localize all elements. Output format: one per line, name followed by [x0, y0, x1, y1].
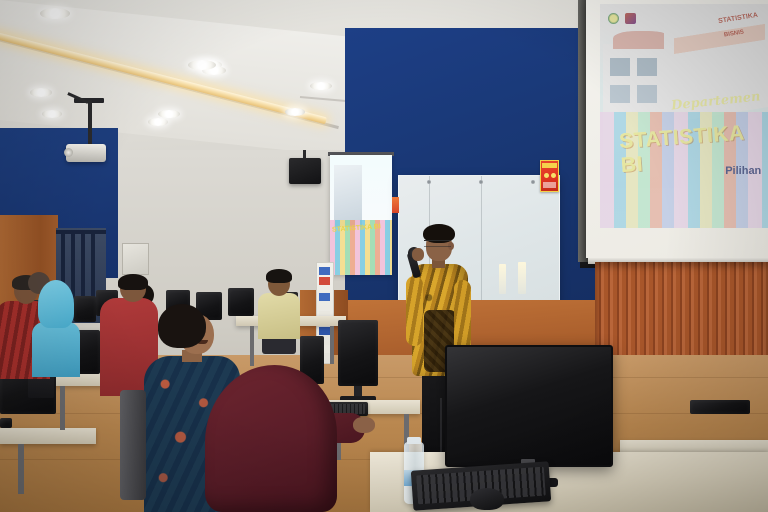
notice-item: [319, 327, 330, 335]
slide-image: STATISTIKA BISNIS Departemen STATISTIKA …: [600, 4, 768, 228]
notice-item: [319, 293, 330, 301]
torso: [258, 293, 300, 339]
safety-poster: [540, 160, 559, 192]
slide-window: [610, 58, 630, 76]
wall-sticker: [392, 197, 399, 213]
notice-item: [319, 277, 330, 285]
wooden-slat-panel: [595, 262, 768, 367]
attendee-light-shirt: [258, 272, 302, 350]
projector-lens-icon: [64, 148, 73, 157]
desk-leg: [60, 386, 65, 430]
downlight: [158, 110, 180, 118]
eyeglasses-icon: [424, 240, 451, 247]
projector-mount-arm: [88, 100, 92, 146]
secondary-projection-screen: STATISTIKA BI: [330, 155, 392, 275]
chair-back: [120, 390, 146, 500]
slide-building-left: [334, 165, 363, 227]
hijab: [205, 365, 337, 512]
hand: [353, 417, 375, 433]
whiteboard-reflection: [499, 264, 506, 294]
wall-speaker: [289, 158, 321, 184]
slide-window: [637, 58, 657, 76]
mouse-foreground[interactable]: [470, 488, 504, 510]
hair: [266, 269, 292, 283]
notice-item: [319, 267, 330, 275]
computer-desk: [0, 428, 96, 444]
hijab: [38, 280, 74, 328]
bottle-cap: [407, 437, 421, 444]
downlight: [285, 108, 305, 116]
whiteboard-reflection: [518, 262, 526, 294]
desk-leg: [18, 444, 24, 494]
downlight: [40, 8, 70, 19]
desk-leg: [330, 326, 334, 364]
monitor-screen: [445, 345, 613, 467]
presenter-left-arm: [406, 276, 423, 346]
downlight: [310, 82, 332, 90]
lab-presentation-photo: STATISTIKA BISNIS Departemen STATISTIKA …: [0, 0, 768, 512]
student-maroon-hijab: [205, 365, 355, 512]
computer-monitor-foreground[interactable]: [445, 345, 613, 467]
downlight: [148, 118, 168, 126]
main-projection-screen: STATISTIKA BISNIS Departemen STATISTIKA …: [586, 0, 768, 258]
slide-subline: Pilihan: [725, 165, 761, 177]
whiteboard-mount: [531, 180, 535, 184]
whiteboard-mount: [427, 180, 431, 184]
slide-window: [637, 85, 657, 103]
downlight: [42, 110, 62, 118]
presenter-left-hand: [412, 248, 424, 261]
sigma-statistics-logo: [625, 13, 636, 24]
downlight: [188, 60, 216, 70]
computer-monitor: [0, 418, 12, 428]
whiteboard-mount: [479, 180, 483, 184]
attendee-blue-hijab: [30, 280, 80, 375]
computer-monitor: [690, 400, 750, 414]
torso: [32, 322, 80, 377]
hair: [158, 304, 206, 348]
downlight: [30, 88, 52, 97]
slide-window: [610, 85, 630, 103]
hair: [118, 274, 148, 290]
slide-roof: [613, 31, 670, 49]
electrical-panel-box[interactable]: [122, 243, 149, 275]
